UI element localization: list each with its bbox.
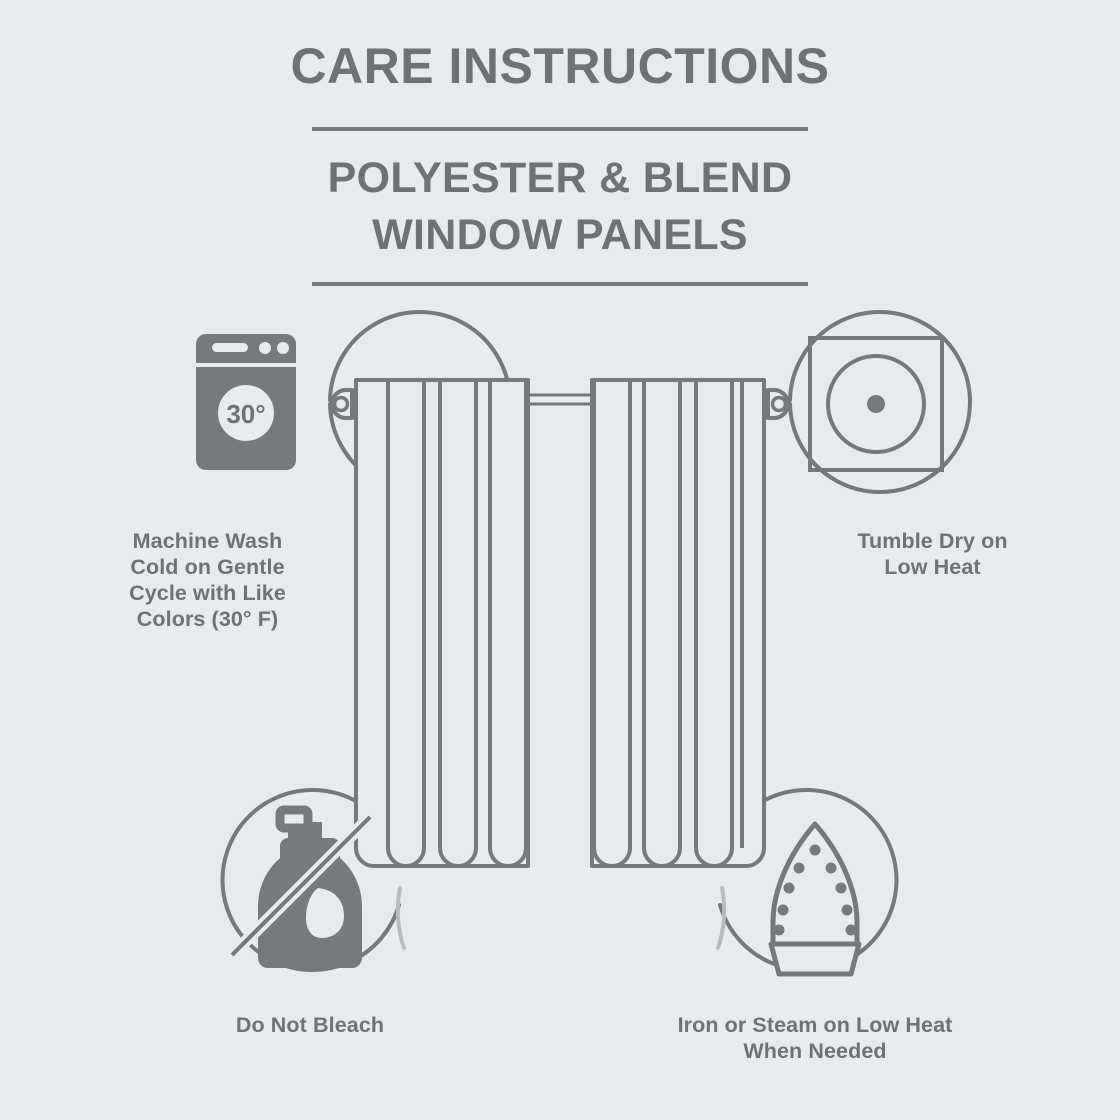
page-subtitle-line-1: POLYESTER & BLEND: [0, 150, 1120, 207]
iron-caption-line-1: Iron or Steam on Low Heat: [610, 1012, 1020, 1038]
page-title: CARE INSTRUCTIONS: [0, 36, 1120, 96]
wash-caption-line-2: Cold on Gentle: [75, 554, 340, 580]
bleach-caption: Do Not Bleach: [185, 1012, 435, 1038]
wash-caption-line-1: Machine Wash: [75, 528, 340, 554]
wash-caption: Machine Wash Cold on Gentle Cycle with L…: [75, 528, 340, 632]
care-instructions-infographic: 30°: [0, 0, 1120, 1120]
bleach-caption-line-1: Do Not Bleach: [185, 1012, 435, 1038]
washing-machine-icon: 30°: [196, 334, 296, 470]
iron-caption: Iron or Steam on Low Heat When Needed: [610, 1012, 1020, 1064]
iron-caption-line-2: When Needed: [610, 1038, 1020, 1064]
tumble-dry-dot: [867, 395, 885, 413]
wash-caption-line-4: Colors (30° F): [75, 606, 340, 632]
dry-caption-line-1: Tumble Dry on: [800, 528, 1065, 554]
dry-caption-line-2: Low Heat: [800, 554, 1065, 580]
dry-caption: Tumble Dry on Low Heat: [800, 528, 1065, 580]
page-subtitle-line-2: WINDOW PANELS: [0, 207, 1120, 264]
right-finial: [768, 390, 788, 418]
wash-caption-line-3: Cycle with Like: [75, 580, 340, 606]
wash-temperature-label: 30°: [226, 399, 265, 429]
left-finial: [332, 390, 352, 418]
iron-base: [771, 944, 859, 974]
page-subtitle: POLYESTER & BLEND WINDOW PANELS: [0, 150, 1120, 264]
